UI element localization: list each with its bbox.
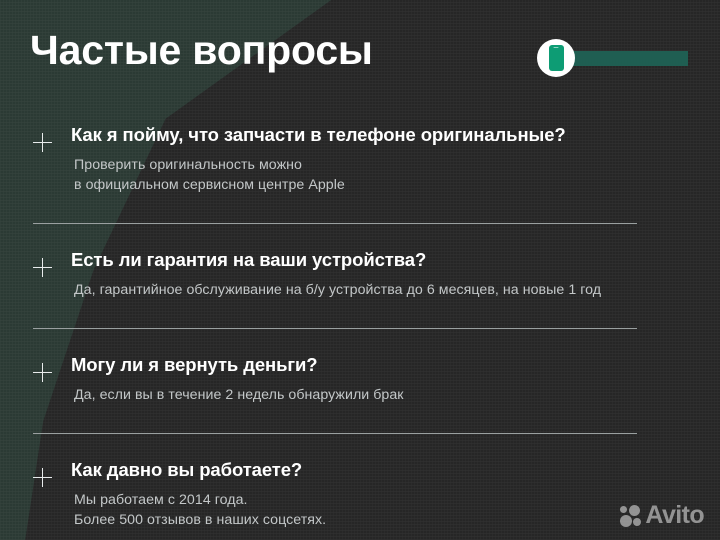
faq-question: Как я пойму, что запчасти в телефоне ори… [71, 123, 690, 147]
plus-icon[interactable] [33, 468, 52, 487]
spacer [30, 224, 690, 248]
accent-bar [558, 51, 688, 66]
plus-icon[interactable] [33, 133, 52, 152]
spacer [30, 530, 690, 540]
faq-list: Как я пойму, что запчасти в телефоне ори… [30, 123, 690, 540]
page-title: Частые вопросы [30, 22, 373, 78]
faq-question: Как давно вы работаете? [71, 458, 690, 482]
faq-question: Могу ли я вернуть деньги? [71, 353, 690, 377]
header-badge [537, 38, 688, 78]
spacer [30, 195, 690, 223]
plus-icon[interactable] [33, 258, 52, 277]
faq-answer: Да, если вы в течение 2 недель обнаружил… [74, 385, 690, 405]
faq-item[interactable]: Могу ли я вернуть деньги? Да, если вы в … [30, 353, 690, 458]
faq-answer: Проверить оригинальность можно в официал… [74, 155, 690, 195]
faq-item[interactable]: Как я пойму, что запчасти в телефоне ори… [30, 123, 690, 248]
faq-answer: Да, гарантийное обслуживание на б/у устр… [74, 280, 690, 300]
phone-icon [549, 45, 564, 71]
avito-dots-icon [620, 505, 642, 527]
plus-icon[interactable] [33, 363, 52, 382]
faq-question: Есть ли гарантия на ваши устройства? [71, 248, 690, 272]
spacer [30, 300, 690, 328]
spacer [30, 405, 690, 433]
slide-header: Частые вопросы [30, 22, 698, 86]
avito-watermark: Avito [620, 503, 704, 528]
spacer [30, 434, 690, 458]
faq-slide: Частые вопросы Как я пойму, что запчасти… [0, 0, 720, 540]
avito-wordmark: Avito [645, 503, 704, 528]
spacer [30, 329, 690, 353]
faq-item[interactable]: Как давно вы работаете? Мы работаем с 20… [30, 458, 690, 540]
faq-answer: Мы работаем с 2014 года. Более 500 отзыв… [74, 490, 690, 530]
faq-item[interactable]: Есть ли гарантия на ваши устройства? Да,… [30, 248, 690, 353]
phone-badge-circle [537, 39, 575, 77]
